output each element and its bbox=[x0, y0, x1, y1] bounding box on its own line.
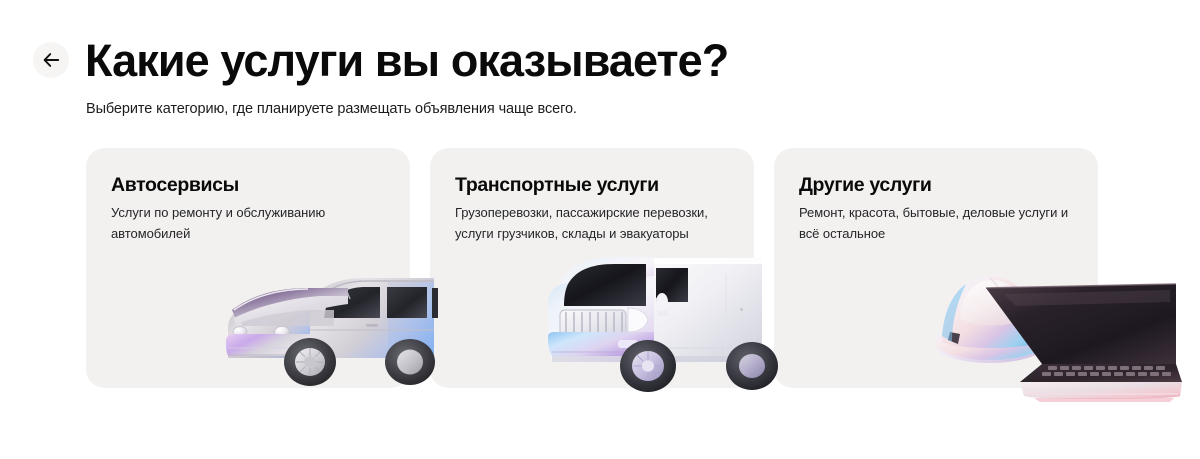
page-root: Какие услуги вы оказываете? Выберите кат… bbox=[0, 0, 1200, 459]
category-card-other[interactable]: Другие услуги Ремонт, красота, бытовые, … bbox=[774, 148, 1098, 388]
card-title: Другие услуги bbox=[799, 173, 1078, 198]
back-button[interactable] bbox=[33, 42, 69, 78]
card-text-block: Автосервисы Услуги по ремонту и обслужив… bbox=[111, 173, 390, 244]
category-card-transport[interactable]: Транспортные услуги Грузоперевозки, пасс… bbox=[430, 148, 754, 388]
card-text-block: Другие услуги Ремонт, красота, бытовые, … bbox=[799, 173, 1078, 244]
category-card-list: Автосервисы Услуги по ремонту и обслужив… bbox=[86, 148, 1116, 408]
page-subtitle: Выберите категорию, где планируете разме… bbox=[86, 99, 577, 119]
card-title: Транспортные услуги bbox=[455, 173, 734, 198]
card-title: Автосервисы bbox=[111, 173, 390, 198]
card-text-block: Транспортные услуги Грузоперевозки, пасс… bbox=[455, 173, 734, 244]
arrow-left-icon bbox=[43, 53, 60, 67]
page-title: Какие услуги вы оказываете? bbox=[85, 34, 728, 88]
card-description: Ремонт, красота, бытовые, деловые услуги… bbox=[799, 203, 1078, 244]
category-card-autoservice[interactable]: Автосервисы Услуги по ремонту и обслужив… bbox=[86, 148, 410, 388]
card-description: Услуги по ремонту и обслуживанию автомоб… bbox=[111, 203, 390, 244]
card-description: Грузоперевозки, пассажирские перевозки, … bbox=[455, 203, 734, 244]
